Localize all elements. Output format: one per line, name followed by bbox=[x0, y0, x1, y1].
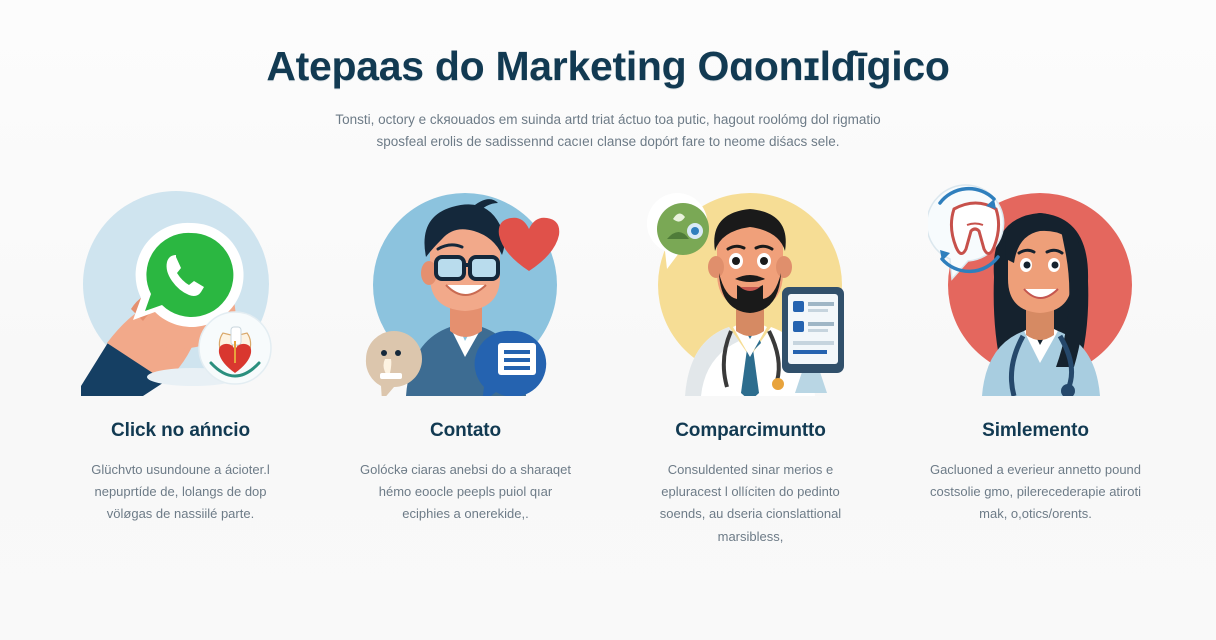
ear-left bbox=[708, 256, 724, 278]
step-card-click-no-anuncio[interactable]: Click no ańncio Glüchvto usundoune a áci… bbox=[38, 181, 323, 548]
header: Atepaas do Marketing Oɑonɪlɗīgico Tonsti… bbox=[0, 0, 1216, 153]
glasses-left-lens bbox=[436, 257, 464, 279]
bubble-gear-center bbox=[691, 227, 699, 235]
chat-line-1 bbox=[504, 350, 530, 354]
glasses-right-lens bbox=[470, 257, 498, 279]
subtitle-line-2: sposfeal erolis de sadissennd cacıeı cla… bbox=[268, 131, 948, 153]
bearded-doctor-with-tablet-illustration bbox=[643, 181, 858, 396]
ear-right bbox=[776, 256, 792, 278]
pupil-left bbox=[1024, 261, 1031, 268]
pupil-right bbox=[1052, 261, 1059, 268]
bubble-dot-right bbox=[395, 350, 401, 356]
step-card-simlemento[interactable]: Simlemento Gacluoned a everieur annetto … bbox=[893, 181, 1178, 548]
steps-row: Click no ańncio Glüchvto usundoune a áci… bbox=[0, 181, 1216, 548]
step-card-contato[interactable]: Contato Golóckə ciaras anebsi do a shara… bbox=[323, 181, 608, 548]
tablet-line-4 bbox=[793, 350, 827, 354]
bubble-bar-glyph bbox=[380, 373, 402, 379]
chat-line-3 bbox=[504, 366, 530, 370]
hand-holding-whatsapp-illustration bbox=[73, 181, 288, 396]
tablet-check-1 bbox=[793, 301, 804, 312]
pupil-left bbox=[732, 257, 740, 265]
page-subtitle: Tonsti, octory e ckяouados em suinda art… bbox=[268, 109, 948, 153]
card-title: Simlemento bbox=[982, 420, 1089, 442]
tablet-check-2 bbox=[793, 321, 804, 332]
chat-line-2 bbox=[504, 358, 530, 362]
female-dentist-with-tooth-bubble-illustration bbox=[928, 181, 1143, 396]
card-title: Click no ańncio bbox=[111, 420, 250, 442]
card-body: Gacluoned a everieur annetto pound costs… bbox=[928, 459, 1143, 526]
tablet-line-3 bbox=[793, 341, 834, 345]
tablet-line-1a bbox=[808, 302, 834, 306]
subtitle-line-1: Tonsti, octory e ckяouados em suinda art… bbox=[268, 109, 948, 131]
tablet-line-2a bbox=[808, 322, 834, 326]
card-body: Consuldented sinar merios e epluracest l… bbox=[643, 459, 858, 548]
card-title: Contato bbox=[430, 420, 501, 442]
card-body: Golóckə ciaras anebsi do a sharaqet hémo… bbox=[358, 459, 573, 526]
smiling-dentist-with-glasses-illustration bbox=[358, 181, 573, 396]
step-card-comparcimuntto[interactable]: Comparcimuntto Consuldented sinar merios… bbox=[608, 181, 893, 548]
page-title: Atepaas do Marketing Oɑonɪlɗīgico bbox=[128, 44, 1088, 90]
pupil-right bbox=[760, 257, 768, 265]
bubble-dot-left bbox=[381, 350, 387, 356]
badge-heart-needle bbox=[234, 341, 236, 363]
stethoscope-bell bbox=[772, 378, 784, 390]
tablet-line-2b bbox=[808, 329, 828, 332]
card-body: Glüchvto usundoune a ácioter.l nepuprtíd… bbox=[73, 459, 288, 526]
poster-page: Atepaas do Marketing Oɑonɪlɗīgico Tonsti… bbox=[0, 0, 1216, 640]
tablet-line-1b bbox=[808, 309, 828, 312]
card-title: Comparcimuntto bbox=[675, 420, 826, 442]
